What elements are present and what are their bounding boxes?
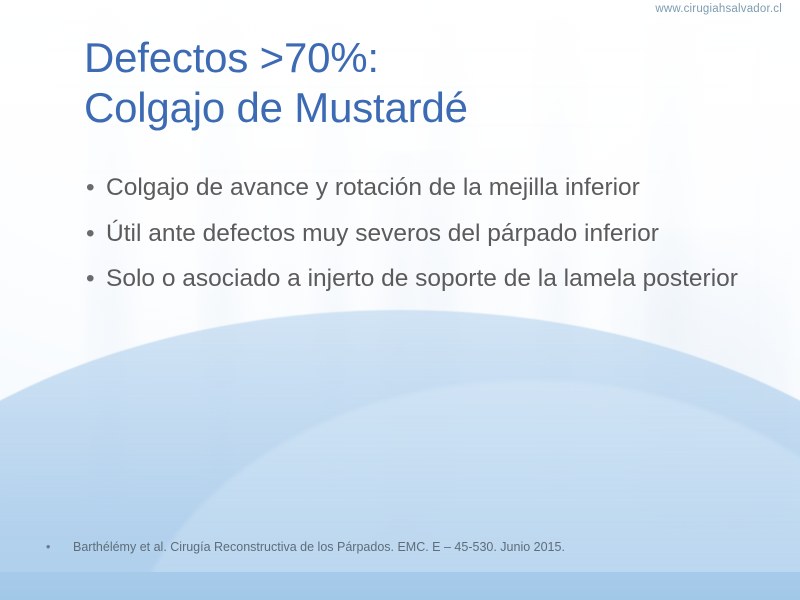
site-url-label: www.cirugiahsalvador.cl [655,3,782,15]
bullet-text: Útil ante defectos muy severos del párpa… [106,218,776,251]
bullet-dot-icon: • [86,218,106,251]
list-item: • Colgajo de avance y rotación de la mej… [86,172,776,205]
list-item: • Solo o asociado a injerto de soporte d… [86,263,776,296]
bullet-dot-icon: • [86,172,106,205]
slide-title: Defectos >70%: Colgajo de Mustardé [84,33,744,132]
footnote-bullet-icon: • [46,539,73,555]
slide-content: www.cirugiahsalvador.cl Defectos >70%: C… [0,0,800,600]
footnote-text: Barthélémy et al. Cirugía Reconstructiva… [73,539,565,555]
bullet-dot-icon: • [86,263,106,296]
bullet-list: • Colgajo de avance y rotación de la mej… [86,172,776,309]
slide-title-line-2: Colgajo de Mustardé [84,83,744,133]
bullet-text: Colgajo de avance y rotación de la mejil… [106,172,776,205]
list-item: • Útil ante defectos muy severos del pár… [86,218,776,251]
slide-title-line-1: Defectos >70%: [84,33,744,83]
footnote-citation: • Barthélémy et al. Cirugía Reconstructi… [46,539,565,555]
slide: www.cirugiahsalvador.cl Defectos >70%: C… [0,0,800,600]
bullet-text: Solo o asociado a injerto de soporte de … [106,263,776,296]
